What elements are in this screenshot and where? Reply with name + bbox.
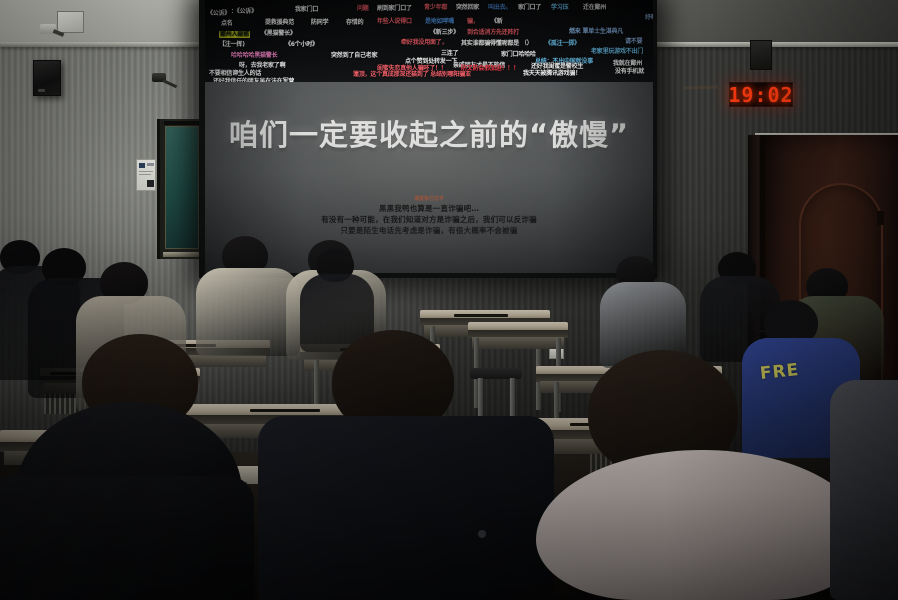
danmaku-comment: 哈哈哈哈黑猫警长 <box>231 52 277 59</box>
slide-body-text: 请度条已过半 黑黑我鸭也算是一直诈骗吧… 有没有一种可能，在我们知道对方是诈骗之… <box>205 196 653 236</box>
danmaku-comment: 【注一挥) <box>219 41 245 48</box>
slide-line-2: 有没有一种可能，在我们知道对方是诈骗之后，我们可以反诈骗 <box>205 214 653 225</box>
danmaku-comment: 《黑猫警长》 <box>261 30 296 37</box>
danmaku-comment: 妤啊、 <box>645 14 653 21</box>
danmaku-comment: 三连了 <box>441 50 458 57</box>
slide-headline: 咱们一定要收起之前的“傲慢” <box>205 118 653 152</box>
clock-mount-box <box>750 40 772 70</box>
danmaku-comment: 突然回家 <box>456 4 479 11</box>
danmaku-comment: 迁在鄮州 <box>583 4 606 11</box>
danmaku-comment: 蓮顶，这个真成那深还猫到了 总结别哪阳骗亚 <box>353 71 471 78</box>
chalk-tray <box>163 252 200 257</box>
danmaku-comment: 我就在鄮州 <box>613 60 642 67</box>
danmaku-comment: 我家门口 <box>295 6 318 13</box>
danmaku-comment: 到合适消方先还阵打 <box>467 29 519 36</box>
danmaku-comment: 防同学 <box>311 19 328 26</box>
danmaku-comment: 《新 <box>491 18 503 25</box>
danmaku-comment: 燃来 覃单士生湛典凡 <box>569 28 623 35</box>
slide-line-3: 只要是陌生电话先考虑是诈骗，有很大概率不会被骗 <box>205 225 653 236</box>
danmaku-comment: ：《公诉》 <box>231 8 257 15</box>
danmaku-comment: 《公诉》 <box>207 10 230 17</box>
danmaku-comment: 是地如哮嘴 <box>425 18 454 25</box>
wall-poster <box>136 159 156 191</box>
danmaku-comment: 我天天被腾讯游戏骗！ <box>523 70 581 77</box>
danmaku-comment: 请不要 <box>625 38 642 45</box>
danmaku-comment: 家门口哈哈哈 <box>501 51 536 58</box>
danmaku-comment: 骗， <box>467 18 479 25</box>
projection-screen[interactable]: ：《公诉》我家门口问题刷到家门口了青少年都突然回家叫出去。家门口了学习压迁在鄮州… <box>205 0 653 273</box>
jacket-snap-button <box>478 530 486 538</box>
security-camera-2-icon <box>152 73 178 89</box>
student-foreground-right-edge <box>830 366 898 600</box>
slide-progress-note: 请度条已过半 <box>205 196 653 203</box>
danmaku-comment: 点名 <box>221 20 233 27</box>
wall-clock: 19:02 <box>729 82 793 107</box>
danmaku-comment: 突然到了自己老家 <box>331 52 377 59</box>
danmaku-comment: 《孤注一掷》 <box>545 40 580 47</box>
danmaku-comment: 学习压 <box>551 4 568 11</box>
classroom-scene: ：《公诉》我家门口问题刷到家门口了青少年都突然回家叫出去。家门口了学习压迁在鄮州… <box>0 0 898 600</box>
danmaku-comment: 还好我闺蜜是警校生 <box>531 63 583 70</box>
danmaku-comment: 呀，去我老家了啊 <box>239 62 285 69</box>
door-hinge <box>877 211 884 225</box>
danmaku-comment: 其实谁都骗得懂呢都是 （） <box>461 40 533 47</box>
danmaku-comment: 青少年都 <box>424 4 447 11</box>
danmaku-comment: 牵好我没用面了， <box>401 39 447 46</box>
danmaku-comment: 问题 <box>357 5 369 12</box>
danmaku-comment: 提救援典范 <box>265 19 294 26</box>
danmaku-comment: 存惜的 <box>346 19 363 26</box>
slide-line-1: 黑黑我鸭也算是一直诈骗吧… <box>205 203 653 214</box>
danmaku-comment: 鄮州人疑惑 <box>219 31 250 38</box>
danmaku-comment: 年些人说得口 <box>377 18 412 25</box>
danmaku-comment-band: ：《公诉》我家门口问题刷到家门口了青少年都突然回家叫出去。家门口了学习压迁在鄮州… <box>205 0 653 82</box>
danmaku-comment: 点个赞到处转发一下 <box>405 58 457 65</box>
danmaku-comment: 叫出去。 <box>488 4 511 11</box>
danmaku-comment: 刷到家门口了 <box>377 5 412 12</box>
security-camera-icon <box>40 24 64 35</box>
danmaku-comment: 还好我信任的朋友吴在法在军营 <box>213 78 294 82</box>
student-foreground-dark-navy <box>258 330 558 600</box>
danmaku-comment: 《新三步》 <box>430 29 459 36</box>
danmaku-comment: 老家里玩游戏不出门 <box>591 48 643 55</box>
danmaku-comment: 《6个小时》 <box>285 41 318 48</box>
danmaku-comment: 不要相信谉生人的话 <box>209 70 261 77</box>
wall-speaker <box>33 60 61 96</box>
student-foreground-black-puffer <box>0 368 266 600</box>
danmaku-comment: 没有手机就 <box>615 68 644 75</box>
clock-time: 19:02 <box>728 85 793 105</box>
danmaku-comment: 家门口了 <box>518 4 541 11</box>
